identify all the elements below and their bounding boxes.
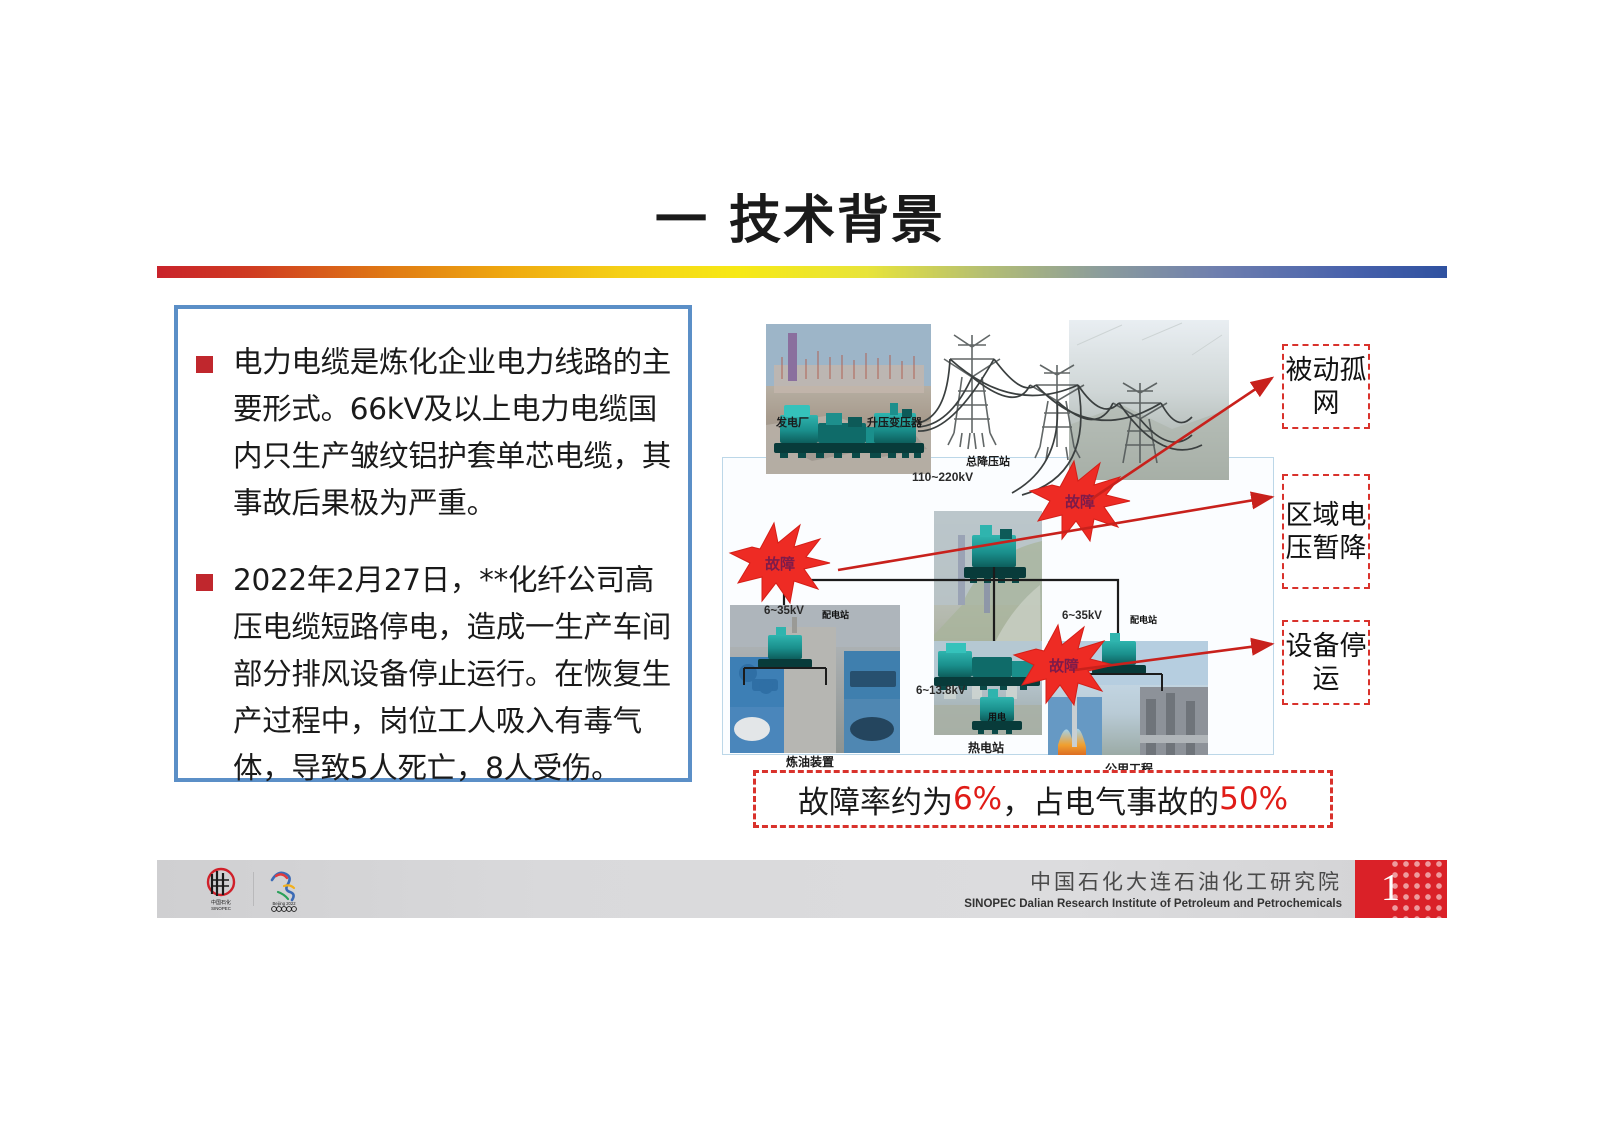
page-title: 一 技术背景	[0, 178, 1600, 253]
logo-divider	[253, 872, 254, 906]
slide-footer: 中国石化 SINOPEC Beijing 2022 中国石化大连石油化工研究院 …	[157, 860, 1447, 918]
footer-org-cn: 中国石化大连石油化工研究院	[822, 866, 1342, 896]
label-distribution-right: 配电站	[1130, 613, 1157, 626]
footer-org-en: SINOPEC Dalian Research Institute of Pet…	[822, 898, 1342, 910]
svg-text:中国石化: 中国石化	[211, 899, 231, 906]
sinopec-logo: 中国石化 SINOPEC	[199, 866, 243, 912]
bullet-item: 电力电缆是炼化企业电力线路的主要形式。66kV及以上电力电缆国内只生产皱纹铝护套…	[196, 339, 688, 527]
banner-value-share: 50%	[1219, 781, 1288, 817]
label-mv-right: 6~35kV	[1062, 610, 1102, 622]
fault-rate-banner: 故障率约为6%，占电气事故的50%	[753, 770, 1333, 828]
label-main-substation: 总降压站	[966, 453, 1010, 469]
power-system-diagram: 故障 故障 故障 发电厂 升压变压器 总降压站 110~220kV 6~35kV…	[722, 305, 1274, 755]
callout-passive-island: 被动孤网	[1282, 344, 1370, 429]
banner-value-fault-rate: 6%	[953, 781, 1002, 817]
callout-regional-voltage-sag: 区域电压暂降	[1282, 474, 1370, 589]
fault-label-distribution: 故障	[765, 555, 795, 573]
content-text-box: 电力电缆是炼化企业电力线路的主要形式。66kV及以上电力电缆国内只生产皱纹铝护套…	[174, 305, 692, 782]
title-gradient-divider	[157, 266, 1447, 278]
bullet-square-icon	[196, 574, 213, 591]
fault-label-transmission: 故障	[1065, 493, 1095, 511]
fault-label-utility: 故障	[1049, 657, 1079, 675]
label-power-plant: 发电厂	[776, 414, 809, 430]
label-thermal-station: 热电站	[968, 739, 1004, 756]
page-number-badge: 1	[1355, 860, 1447, 918]
callout-equipment-shutdown: 设备停运	[1282, 620, 1370, 705]
label-hv-level: 110~220kV	[912, 470, 973, 484]
svg-text:SINOPEC: SINOPEC	[211, 906, 231, 911]
label-refinery: 炼油装置	[786, 753, 834, 770]
svg-text:Beijing 2022: Beijing 2022	[272, 901, 296, 906]
banner-middle: ，占电气事故的	[1002, 777, 1219, 822]
bullet-square-icon	[196, 356, 213, 373]
beijing-2022-logo: Beijing 2022	[264, 866, 304, 912]
label-step-up-transformer: 升压变压器	[867, 414, 922, 430]
label-lv-level: 6~13.8kV	[916, 685, 966, 697]
photo-refinery	[730, 605, 900, 753]
footer-logo-group: 中国石化 SINOPEC Beijing 2022	[199, 864, 309, 914]
slide-canvas: 一 技术背景 电力电缆是炼化企业电力线路的主要形式。66kV及以上电力电缆国内只…	[0, 0, 1600, 1131]
bullet-text: 2022年2月27日，**化纤公司高压电缆短路停电，造成一生产车间部分排风设备停…	[233, 557, 673, 792]
footer-organization: 中国石化大连石油化工研究院 SINOPEC Dalian Research In…	[822, 866, 1342, 910]
page-number: 1	[1381, 866, 1400, 910]
photo-transmission-line	[1069, 320, 1229, 480]
label-distribution-left: 配电站	[822, 608, 849, 621]
bullet-text: 电力电缆是炼化企业电力线路的主要形式。66kV及以上电力电缆国内只生产皱纹铝护套…	[233, 339, 673, 527]
banner-prefix: 故障率约为	[798, 777, 953, 822]
bullet-item: 2022年2月27日，**化纤公司高压电缆短路停电，造成一生产车间部分排风设备停…	[196, 557, 688, 792]
diagram-graphics: 故障 故障 故障	[722, 305, 1274, 755]
label-mv-left: 6~35kV	[764, 605, 804, 617]
label-consumption: 用电	[988, 710, 1006, 723]
